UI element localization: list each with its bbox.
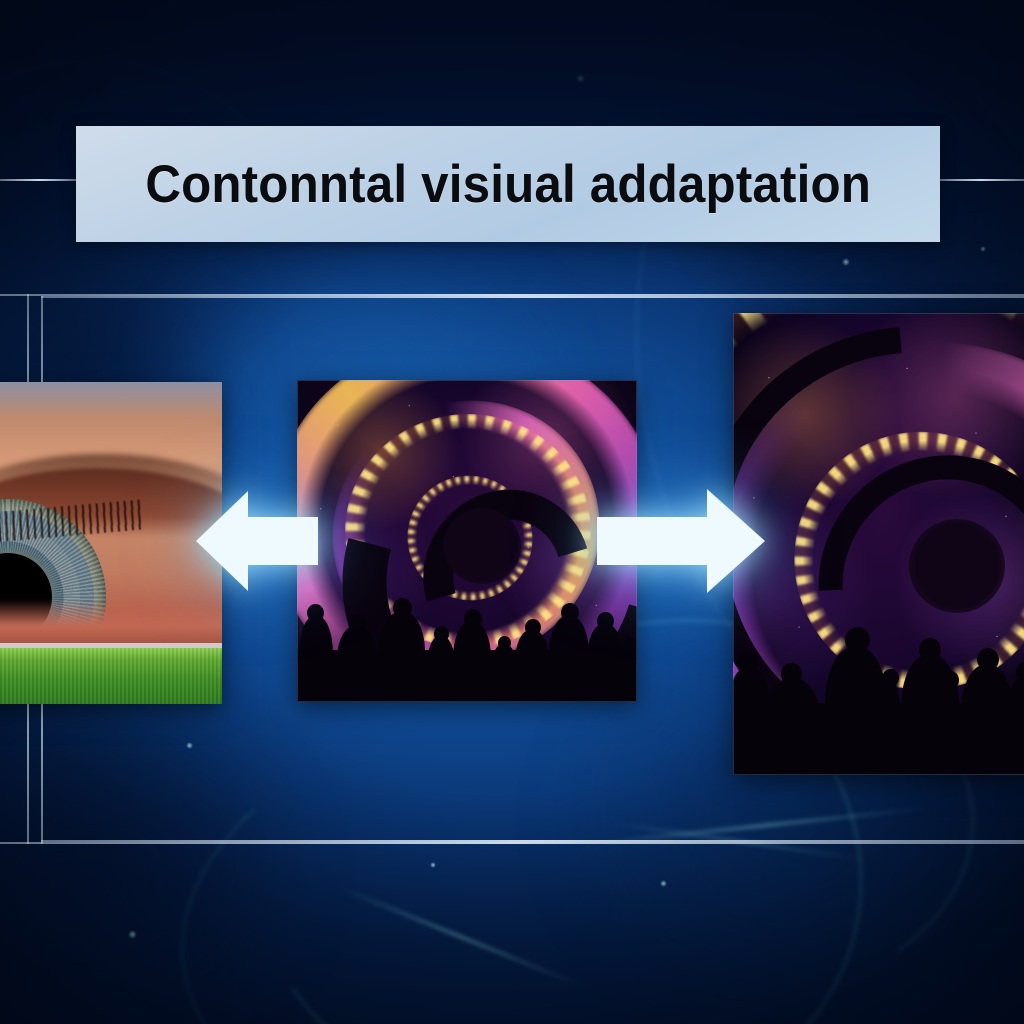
panel-border	[733, 313, 1024, 775]
panel-spiral-galaxy-crowd-photo[interactable]	[297, 380, 637, 702]
slide-canvas: Contonntal visiual addaptation	[0, 0, 1024, 1024]
page-title: Contonntal visiual addaptation	[145, 154, 871, 215]
arrow-left-icon[interactable]	[196, 487, 318, 595]
panel-human-eye-photo[interactable]	[0, 382, 222, 704]
title-banner: Contonntal visiual addaptation	[76, 126, 940, 242]
panel-border	[297, 380, 637, 702]
grass-strip	[0, 648, 222, 704]
arrow-right-icon[interactable]	[597, 487, 765, 595]
panel-spiral-galaxy-zoom-photo[interactable]	[733, 313, 1024, 775]
